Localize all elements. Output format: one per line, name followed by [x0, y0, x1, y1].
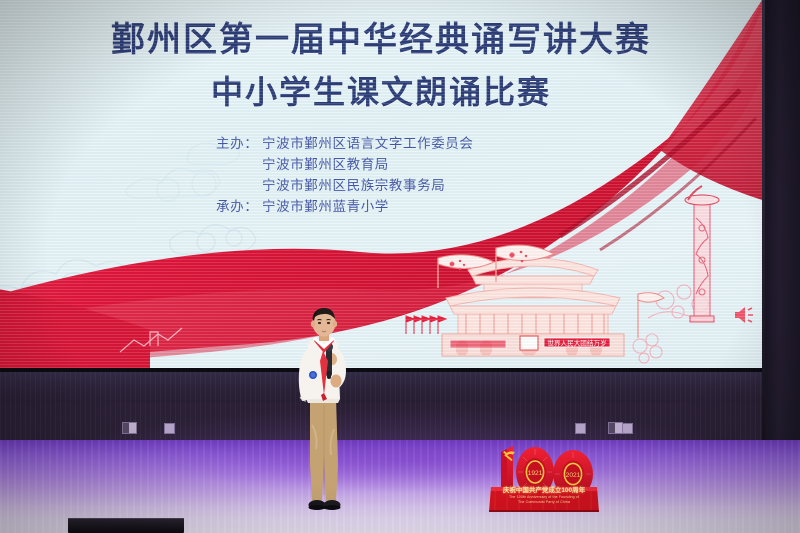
- organizer-value: 宁波市鄞州区民族宗教事务局: [262, 176, 546, 197]
- wall-outlet: [608, 422, 623, 434]
- centennial-sculpture: 1921 2021: [487, 440, 605, 518]
- wall-light-glow: [0, 360, 800, 450]
- organizer-row: 宁波市鄞州区民族宗教事务局: [216, 176, 546, 197]
- performer-student: [280, 305, 366, 518]
- organizer-key: [216, 176, 262, 197]
- wall-outlet: [622, 423, 633, 434]
- tiananmen-illustration: 世界人民大团结万岁: [398, 236, 668, 366]
- svg-text:2021: 2021: [566, 472, 581, 479]
- wall-outlet: [164, 423, 175, 434]
- right-wall-column: [762, 0, 800, 446]
- organizer-row: 主办： 宁波市鄞州区语言文字工作委员会: [216, 134, 546, 155]
- organizer-key: 承办：: [216, 197, 262, 218]
- stage-photo: 世界人民大团结万岁: [0, 0, 800, 533]
- screen-right-edge: [762, 0, 765, 446]
- organizer-key: 主办：: [216, 134, 262, 155]
- svg-text:世界人民大团结万岁: 世界人民大团结万岁: [547, 338, 606, 347]
- speaker-icon: [733, 306, 755, 324]
- organizer-key: [216, 155, 262, 176]
- wall-outlet: [575, 423, 586, 434]
- led-screen: 世界人民大团结万岁: [0, 0, 762, 368]
- stage-monitor: [68, 519, 184, 533]
- organizer-value: 宁波市鄞州区教育局: [262, 155, 546, 176]
- organizer-value: 宁波市鄞州区语言文字工作委员会: [262, 134, 546, 155]
- event-title-line-1: 鄞州区第一届中华经典诵写讲大赛: [0, 0, 762, 58]
- organizer-row: 承办： 宁波市鄞州蓝青小学: [216, 197, 546, 218]
- screen-title-block: 鄞州区第一届中华经典诵写讲大赛 中小学生课文朗诵比赛: [0, 0, 762, 108]
- organizer-row: 宁波市鄞州区教育局: [216, 155, 546, 176]
- organizer-block: 主办： 宁波市鄞州区语言文字工作委员会 宁波市鄞州区教育局 宁波市鄞州区民族宗教…: [0, 134, 762, 218]
- svg-text:1921: 1921: [528, 470, 543, 477]
- wall-outlet: [122, 422, 137, 434]
- event-title-line-2: 中小学生课文朗诵比赛: [0, 58, 762, 108]
- organizer-value: 宁波市鄞州蓝青小学: [262, 197, 546, 218]
